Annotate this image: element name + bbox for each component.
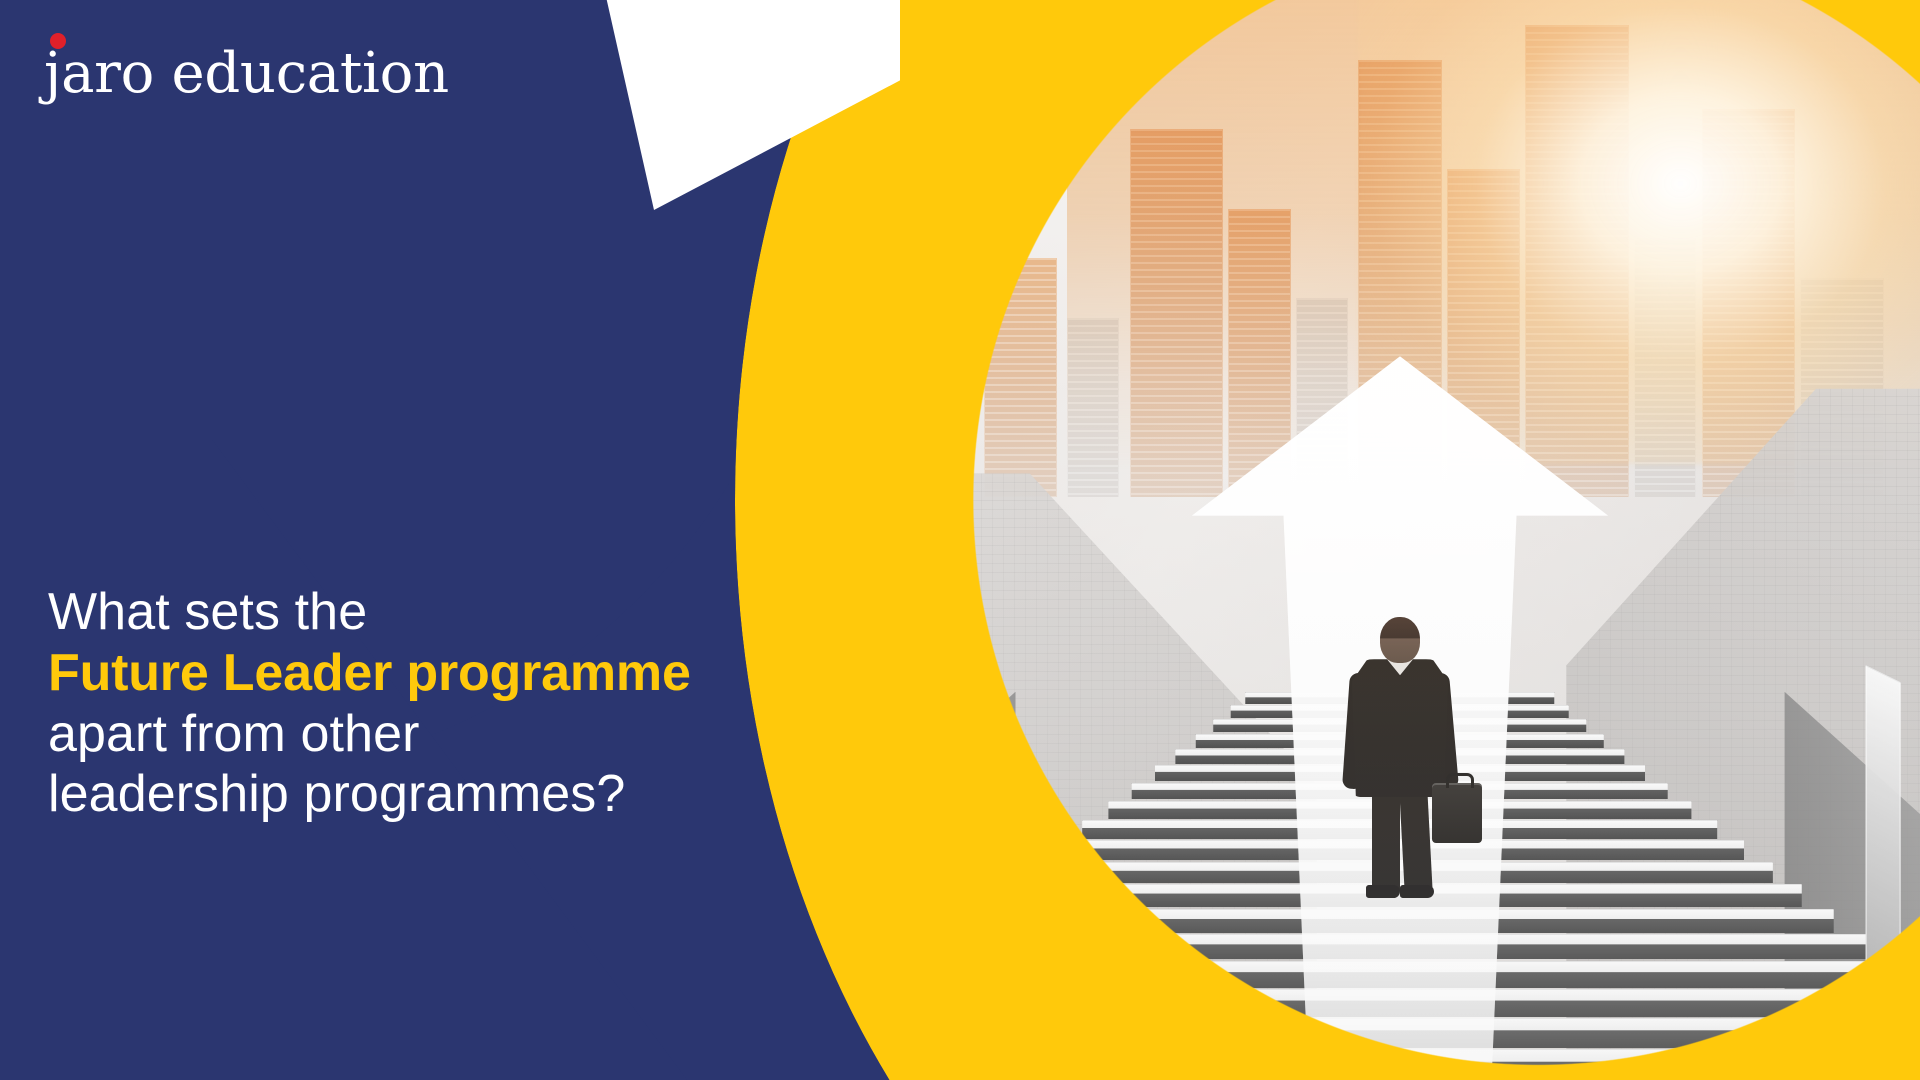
logo-text: jaro education xyxy=(44,41,449,106)
headline-line-3: apart from other xyxy=(48,704,868,765)
headline-block: What sets the Future Leader programme ap… xyxy=(48,582,868,825)
headline-line-2-accent: Future Leader programme xyxy=(48,643,868,704)
headline-line-4: leadership programmes? xyxy=(48,764,868,825)
yellow-crescent-arc xyxy=(735,0,1920,1080)
brand-logo[interactable]: jaro education xyxy=(44,46,449,102)
headline-line-1: What sets the xyxy=(48,582,868,643)
red-dot-icon xyxy=(50,33,66,49)
logo-wordmark: jaro education xyxy=(44,46,449,102)
marketing-slide: jaro education What sets the Future Lead… xyxy=(0,0,1920,1080)
